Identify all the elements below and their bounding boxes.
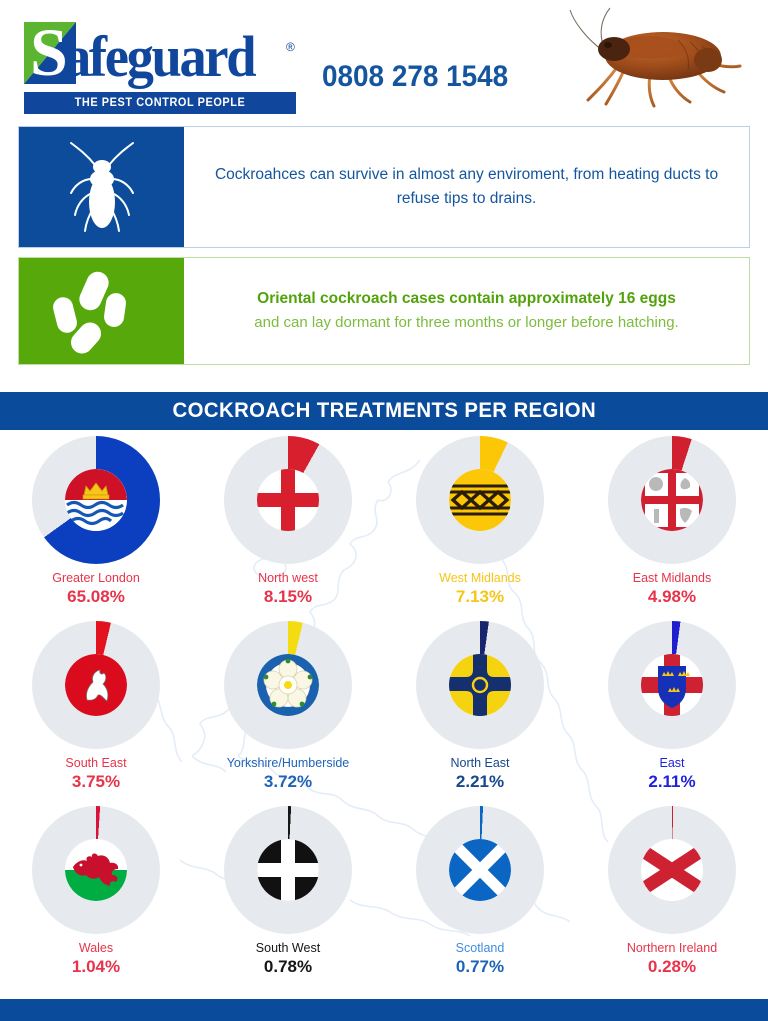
- region-value: 3.72%: [264, 772, 312, 792]
- region-label: East: [659, 755, 684, 771]
- egg-case-icon-panel: [19, 258, 184, 364]
- donut-scotland: [416, 806, 544, 934]
- region-cell-northern-ireland[interactable]: Northern Ireland 0.28%: [576, 800, 768, 985]
- donut-north-east: [416, 621, 544, 749]
- region-value: 2.11%: [648, 772, 695, 792]
- flag-yorkshire-icon: [257, 654, 319, 716]
- region-cell-south-west[interactable]: South West 0.78%: [192, 800, 384, 985]
- fact-box-green: Oriental cockroach cases contain approxi…: [18, 257, 750, 365]
- cockroach-photo: [558, 4, 758, 116]
- region-cell-west-midlands[interactable]: West Midlands 7.13%: [384, 430, 576, 615]
- region-value: 3.75%: [72, 772, 120, 792]
- registered-trademark-icon: ®: [286, 40, 295, 54]
- donut-east-midlands: [608, 436, 736, 564]
- flag-north-west-icon: [257, 469, 319, 531]
- logo-tagline-text: THE PEST CONTROL PEOPLE: [31, 92, 289, 114]
- donut-wales: [32, 806, 160, 934]
- region-label: Yorkshire/Humberside: [227, 755, 350, 771]
- flag-west-midlands-icon: [449, 469, 511, 531]
- region-label: Northern Ireland: [627, 940, 717, 956]
- egg-case-icon: [47, 267, 157, 355]
- logo-tagline-bar: THE PEST CONTROL PEOPLE: [24, 92, 296, 114]
- region-label: West Midlands: [439, 570, 521, 586]
- region-cell-south-east[interactable]: South East 3.75%: [0, 615, 192, 800]
- donut-northern-ireland: [608, 806, 736, 934]
- region-value: 65.08%: [67, 587, 125, 607]
- region-value: 4.98%: [648, 587, 696, 607]
- flag-north-east-icon: [449, 654, 511, 716]
- donut-north-west: [224, 436, 352, 564]
- safeguard-logo[interactable]: S afeguard ® THE PEST CONTROL PEOPLE: [24, 22, 296, 114]
- regions-chart: Greater London 65.08% North west 8.15%: [0, 430, 768, 995]
- infographic-page: S afeguard ® THE PEST CONTROL PEOPLE 080…: [0, 0, 768, 1021]
- region-label: North East: [450, 755, 509, 771]
- region-value: 1.04%: [72, 957, 120, 977]
- flag-greater-london-icon: [65, 469, 127, 531]
- phone-number[interactable]: 0808 278 1548: [322, 60, 508, 94]
- region-cell-north-east[interactable]: North East 2.21%: [384, 615, 576, 800]
- section-title-bar: COCKROACH TREATMENTS PER REGION: [0, 392, 768, 430]
- logo-wordmark: afeguard: [64, 26, 254, 88]
- region-cell-north-west[interactable]: North west 8.15%: [192, 430, 384, 615]
- flag-northern-ireland-icon: [641, 839, 703, 901]
- fact-box-blue: Cockroahces can survive in almost any en…: [18, 126, 750, 248]
- region-cell-scotland[interactable]: Scotland 0.77%: [384, 800, 576, 985]
- donut-greater-london: [32, 436, 160, 564]
- donut-south-east: [32, 621, 160, 749]
- cockroach-icon-panel: [19, 127, 184, 247]
- fact-text-green: Oriental cockroach cases contain approxi…: [184, 258, 749, 364]
- flag-south-west-icon: [257, 839, 319, 901]
- donut-south-west: [224, 806, 352, 934]
- region-value: 0.78%: [264, 957, 312, 977]
- cockroach-icon: [65, 139, 139, 235]
- page-header: S afeguard ® THE PEST CONTROL PEOPLE 080…: [0, 0, 768, 122]
- region-label: Wales: [79, 940, 113, 956]
- fact-green-bold: Oriental cockroach cases contain approxi…: [257, 290, 676, 307]
- region-value: 7.13%: [456, 587, 504, 607]
- region-cell-east[interactable]: East 2.11%: [576, 615, 768, 800]
- flag-wales-icon: [65, 839, 127, 901]
- region-cell-greater-london[interactable]: Greater London 65.08%: [0, 430, 192, 615]
- donut-east: [608, 621, 736, 749]
- region-value: 0.28%: [648, 957, 696, 977]
- region-label: Scotland: [456, 940, 505, 956]
- flag-scotland-icon: [449, 839, 511, 901]
- region-value: 2.21%: [456, 772, 504, 792]
- region-label: South East: [65, 755, 126, 771]
- region-cell-wales[interactable]: Wales 1.04%: [0, 800, 192, 985]
- region-label: Greater London: [52, 570, 140, 586]
- footer-bar: [0, 999, 768, 1021]
- regions-grid: Greater London 65.08% North west 8.15%: [0, 430, 768, 995]
- flag-east-icon: [641, 654, 703, 716]
- flag-south-east-icon: [65, 654, 127, 716]
- section-title-text: COCKROACH TREATMENTS PER REGION: [172, 399, 596, 423]
- fact-text-blue: Cockroahces can survive in almost any en…: [184, 127, 749, 247]
- region-label: North west: [258, 570, 318, 586]
- fact-green-light: and can lay dormant for three months or …: [254, 314, 678, 331]
- region-cell-east-midlands[interactable]: East Midlands 4.98%: [576, 430, 768, 615]
- region-cell-yorkshire-humberside[interactable]: Yorkshire/Humberside 3.72%: [192, 615, 384, 800]
- region-value: 8.15%: [264, 587, 312, 607]
- donut-yorkshire-humberside: [224, 621, 352, 749]
- donut-west-midlands: [416, 436, 544, 564]
- logo-letter-s: S: [30, 18, 66, 86]
- flag-east-midlands-icon: [641, 469, 703, 531]
- region-label: East Midlands: [633, 570, 712, 586]
- region-value: 0.77%: [456, 957, 504, 977]
- region-label: South West: [256, 940, 320, 956]
